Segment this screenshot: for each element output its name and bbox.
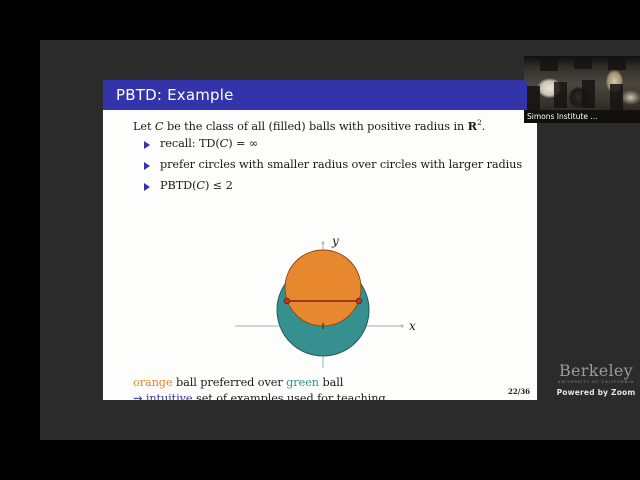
slide-bullet-list: recall: TD(C) = ∞ prefer circles with sm…	[143, 137, 522, 200]
footer-orange-word: orange	[133, 376, 173, 389]
slide-page-number: 22/36	[508, 387, 530, 396]
y-axis-label: y	[331, 234, 339, 248]
intersection-point-right	[356, 298, 362, 304]
orange-ball	[285, 250, 361, 326]
x-axis-label: x	[409, 319, 416, 333]
thumbnail-label-bar: Simons Institute ...	[524, 110, 640, 123]
footer-line-2: ⇝ intuitive set of examples used for tea…	[133, 391, 386, 400]
seat-shape	[574, 57, 592, 69]
seat-shape	[610, 84, 623, 110]
squiggly-arrow-icon: ⇝	[133, 392, 146, 400]
bullet-triangle-icon	[144, 183, 150, 191]
berkeley-watermark: Berkeley UNIVERSITY OF CALIFORNIA Powere…	[553, 362, 639, 397]
bullet-triangle-icon	[144, 162, 150, 170]
list-item: recall: TD(C) = ∞	[143, 137, 522, 150]
presentation-slide: PBTD: Example Let C be the class of all …	[103, 80, 537, 400]
video-player-stage: PBTD: Example Let C be the class of all …	[0, 0, 640, 480]
diagram-svg: y x	[213, 228, 433, 373]
seat-shape	[540, 58, 558, 71]
bullet-triangle-icon	[144, 141, 150, 149]
slide-body: Let C be the class of all (filled) balls…	[103, 110, 537, 400]
bullet-text-post: ) ≤ 2	[205, 179, 233, 192]
lead-prefix: Let	[133, 120, 155, 133]
seat-shape	[582, 80, 595, 108]
slide-title: PBTD: Example	[103, 86, 234, 104]
thumbnail-label: Simons Institute ...	[524, 112, 597, 121]
footer-line2-end: set of examples used for teaching	[193, 392, 386, 400]
footer-line1-end: ball	[319, 376, 343, 389]
intersection-point-left	[284, 298, 290, 304]
list-item: prefer circles with smaller radius over …	[143, 158, 522, 171]
seat-shape	[608, 58, 626, 70]
balls-diagram: y x	[213, 228, 433, 373]
bullet-text-post: ) = ∞	[228, 137, 258, 150]
list-item: PBTD(C) ≤ 2	[143, 179, 522, 192]
slide-lead-text: Let C be the class of all (filled) balls…	[133, 118, 485, 133]
bullet-text-pre: PBTD(	[160, 179, 196, 192]
zoom-credit-label: Powered by Zoom	[553, 388, 639, 397]
slide-title-bar: PBTD: Example	[103, 80, 537, 110]
y-axis-tip-dot	[321, 241, 324, 244]
footer-line-1: orange ball preferred over green ball	[133, 375, 386, 391]
lead-reals-symbol: R	[468, 119, 477, 133]
participant-video-thumbnail[interactable]: Simons Institute ...	[524, 56, 640, 123]
berkeley-subtitle: UNIVERSITY OF CALIFORNIA	[553, 379, 639, 385]
x-axis-tip-dot	[400, 324, 403, 327]
bullet-text-pre: prefer circles with smaller radius over …	[160, 158, 522, 171]
slide-footer-text: orange ball preferred over green ball ⇝ …	[133, 375, 386, 400]
seat-shape	[554, 82, 567, 108]
seat-shape	[526, 86, 540, 110]
footer-green-word: green	[286, 376, 319, 389]
bullet-class-symbol: C	[220, 137, 229, 150]
footer-line1-mid: ball preferred over	[173, 376, 287, 389]
thumbnail-accent-bar	[524, 82, 527, 110]
lead-middle: be the class of all (filled) balls with …	[163, 120, 467, 133]
video-content-area: PBTD: Example Let C be the class of all …	[40, 40, 640, 440]
berkeley-wordmark: Berkeley	[553, 362, 639, 379]
lead-suffix: .	[482, 120, 486, 133]
bullet-class-symbol: C	[196, 179, 205, 192]
bullet-text-pre: recall: TD(	[160, 137, 220, 150]
footer-intuitive-word: intuitive	[146, 392, 193, 400]
